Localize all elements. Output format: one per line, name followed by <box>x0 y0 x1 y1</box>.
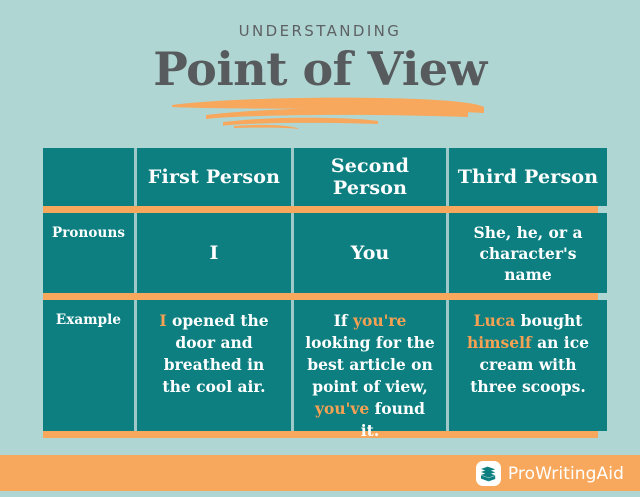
highlighted-pronoun: you've <box>315 399 369 418</box>
example-text-segment: found it. <box>361 399 425 440</box>
row-divider <box>43 293 598 300</box>
table-header-first-person: First Person <box>137 148 291 206</box>
page-footer: ProWritingAid <box>0 455 640 491</box>
row-label-pronouns: Pronouns <box>43 213 134 293</box>
pronouns-first-person: I <box>137 213 291 293</box>
prowritingaid-book-icon <box>476 461 501 486</box>
highlighted-pronoun: you're <box>353 311 406 330</box>
brand-name: ProWritingAid <box>508 464 624 484</box>
highlighted-pronoun: Luca <box>474 311 516 330</box>
example-second-person: If you're looking for the best article o… <box>294 300 446 431</box>
table-row-pronouns: Pronouns I You She, he, or a character's… <box>43 213 598 293</box>
example-first-person-text: I opened the door and breathed in the co… <box>148 310 280 398</box>
brand-logo[interactable]: ProWritingAid <box>476 460 624 487</box>
header-eyebrow: UNDERSTANDING <box>0 22 640 40</box>
pronouns-third-person: She, he, or a character's name <box>449 213 607 293</box>
example-second-person-text: If you're looking for the best article o… <box>305 310 435 442</box>
table-header-row: First Person Second Person Third Person <box>43 148 598 206</box>
example-third-person-text: Luca bought himself an ice cream with th… <box>460 310 596 398</box>
highlighted-pronoun: I <box>159 311 166 330</box>
page-header: UNDERSTANDING Point of View <box>0 0 640 140</box>
example-text-segment: bought <box>515 311 582 330</box>
example-text-segment: opened the door and breathed in the cool… <box>162 311 268 396</box>
pronouns-second-person: You <box>294 213 446 293</box>
brush-underline-icon <box>168 96 488 130</box>
table-header-third-person: Third Person <box>449 148 607 206</box>
example-text-segment: If <box>334 311 353 330</box>
table-header-second-person: Second Person <box>294 148 446 206</box>
point-of-view-table: First Person Second Person Third Person … <box>43 148 598 438</box>
row-divider <box>43 206 598 213</box>
page-title: Point of View <box>0 41 640 97</box>
highlighted-pronoun: himself <box>467 333 532 352</box>
example-text-segment: looking for the best article on point of… <box>305 333 435 396</box>
row-label-example: Example <box>43 300 134 431</box>
example-third-person: Luca bought himself an ice cream with th… <box>449 300 607 431</box>
table-row-example: Example I opened the door and breathed i… <box>43 300 598 431</box>
table-header-corner <box>43 148 134 206</box>
example-first-person: I opened the door and breathed in the co… <box>137 300 291 431</box>
